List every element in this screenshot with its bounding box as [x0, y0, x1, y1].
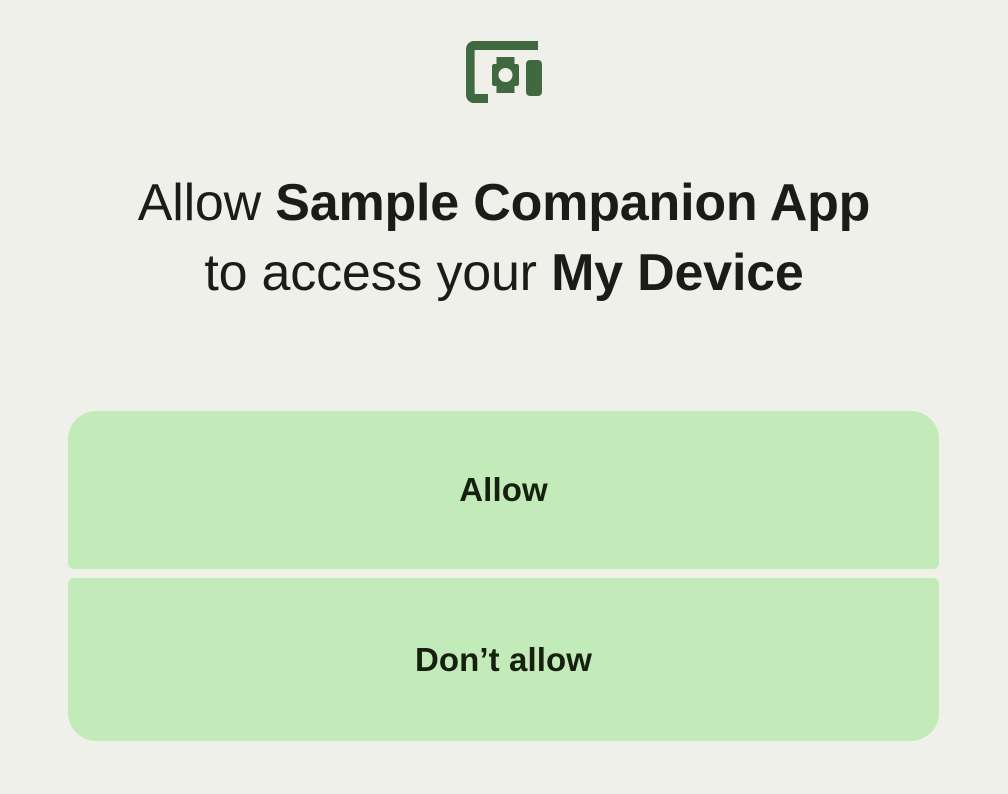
action-buttons: Allow Don’t allow: [68, 411, 939, 741]
headline-prefix-2: to access your: [204, 244, 551, 302]
companion-pairing-dialog: Allow Sample Companion App to access you…: [0, 0, 1008, 794]
headline-line-1: Allow Sample Companion App: [0, 168, 1008, 238]
allow-button[interactable]: Allow: [68, 411, 939, 569]
app-name: Sample Companion App: [275, 174, 870, 232]
page-title: Allow Sample Companion App to access you…: [0, 168, 1008, 308]
icon-area: [0, 36, 1008, 108]
devices-icon: [466, 41, 542, 103]
dont-allow-button[interactable]: Don’t allow: [68, 578, 939, 741]
headline-prefix-1: Allow: [138, 174, 276, 232]
headline-line-2: to access your My Device: [0, 238, 1008, 308]
device-name: My Device: [551, 244, 804, 302]
